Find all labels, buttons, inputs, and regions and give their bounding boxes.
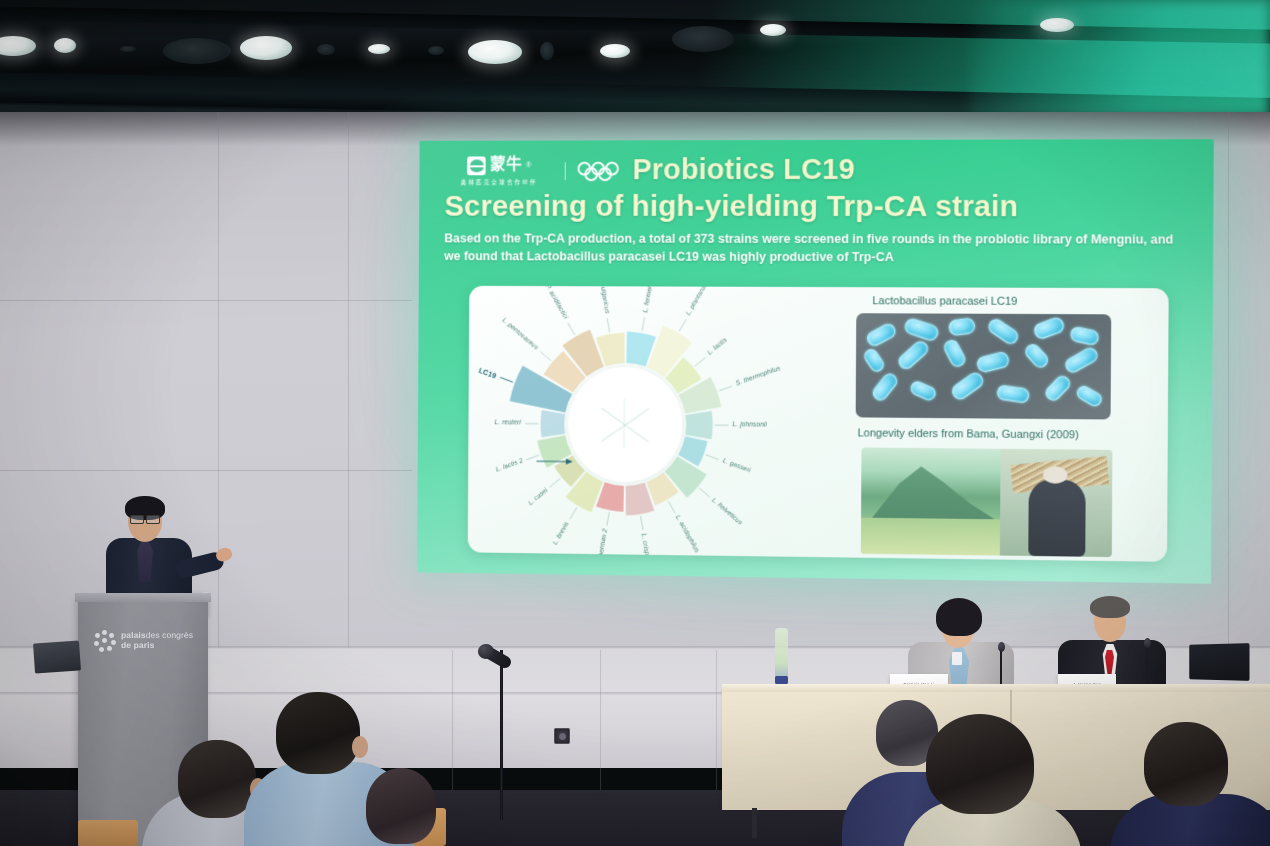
panelist-left-badge: [952, 652, 962, 665]
wall-panel-seam: [0, 470, 412, 471]
bama-landscape-photo: [861, 447, 1000, 555]
chart-category-label: L. johnsonii: [732, 421, 766, 428]
audience-member: [912, 714, 1072, 846]
slide-title: Screening of high-yielding Trp-CA strain: [444, 190, 1188, 224]
elder-figure: [1029, 479, 1086, 557]
panelist-left-hair: [936, 598, 982, 636]
panel-table-top-edge: [722, 684, 1270, 692]
mountain-shape: [872, 462, 995, 519]
chart-category-label: L. lactis: [706, 337, 728, 357]
ceiling-light-recess: [120, 46, 136, 52]
audience-ear: [352, 736, 368, 758]
panelist-right-microphone-head: [1144, 638, 1151, 648]
ceiling-light-recess: [672, 26, 734, 52]
lc19-callout-arrow: [535, 456, 568, 468]
elder-portrait-photo: [1000, 449, 1113, 557]
longevity-elders-image: [861, 447, 1113, 557]
chart-category-label: S. thermophilus: [735, 365, 782, 387]
slide-content-card: L. fermentumL. plantarumL. lactisS. ther…: [468, 286, 1169, 562]
projection-screen: 蒙牛 ® 奥林匹克全球合作伙伴: [417, 139, 1214, 584]
floor-microphone-head: [478, 644, 494, 659]
panelist-left-microphone-stem: [1000, 648, 1002, 686]
chart-category-label: L. helveticus: [711, 497, 744, 527]
dado-panel-seam: [716, 650, 717, 790]
registered-mark: ®: [526, 162, 531, 169]
venue-logo-mark-icon: [94, 630, 116, 652]
panel-table-leg: [752, 808, 757, 838]
ceiling: [0, 0, 1270, 118]
mengniu-brand-cn: 蒙牛: [490, 157, 522, 173]
chart-category-label: L. gasseri: [721, 457, 751, 474]
audience-head: [178, 740, 256, 818]
audience-head: [1144, 722, 1228, 806]
panelist-right-microphone-stem: [1146, 644, 1148, 686]
ceiling-downlight: [468, 40, 522, 64]
wall-panel-seam: [0, 300, 412, 301]
chart-category-label: L. fermentum: [642, 286, 656, 314]
chart-category-label: L. brevis: [535, 521, 571, 562]
ceiling-light-recess: [540, 42, 554, 60]
mengniu-logo: 蒙牛 ®: [467, 156, 531, 175]
panelist-right-hair: [1090, 596, 1130, 618]
confidence-monitor: [33, 640, 81, 673]
dado-panel-seam: [600, 650, 601, 790]
field-shape: [861, 518, 1000, 556]
mengniu-mark-icon: [467, 156, 486, 175]
chart-category-label: L. crispatus: [640, 533, 653, 562]
chart-category-label: L. lactis 2: [468, 457, 524, 483]
venue-logo-text: palaisdes congrès de paris: [121, 631, 193, 651]
chart-category-labels: L. fermentumL. plantarumL. lactisS. ther…: [468, 286, 837, 562]
laptop-screen: [1189, 643, 1249, 681]
slide-logo-row: 蒙牛 ® 奥林匹克全球合作伙伴: [445, 153, 1189, 187]
ceiling-light-recess: [163, 38, 231, 64]
ceiling-downlight: [368, 44, 390, 54]
ceiling-downlight: [54, 38, 76, 53]
wall-panel-seam: [1228, 112, 1229, 672]
audience-chair[interactable]: [78, 820, 138, 846]
chart-category-label: L. plantarum: [685, 286, 710, 317]
audience-head: [926, 714, 1034, 814]
ceiling-downlight: [0, 36, 36, 56]
ceiling-green-spill: [970, 0, 1270, 118]
ceiling-downlight: [600, 44, 630, 58]
laptop[interactable]: [1178, 644, 1252, 686]
logo-divider: [565, 162, 566, 180]
slide-kicker: Probiotics LC19: [632, 154, 855, 187]
venue-brand-line1: palais: [121, 630, 146, 640]
ceiling-light-recess: [317, 44, 335, 55]
chart-category-label: L. bulgaricus: [593, 286, 610, 315]
slide-body-text: Based on the Trp-CA production, a total …: [444, 230, 1188, 268]
floor-microphone-stand: [500, 650, 503, 820]
chart-category-label: LC19: [468, 352, 498, 381]
ceiling-light-recess: [428, 46, 444, 55]
bacteria-micrograph-image: [856, 313, 1112, 419]
lectern-top-surface: [75, 593, 211, 602]
chart-category-label: L. pentosaceus: [491, 308, 540, 352]
chart-category-label: L. casei: [499, 487, 549, 530]
slide-header: 蒙牛 ® 奥林匹克全球合作伙伴: [444, 153, 1189, 267]
ceiling-downlight: [760, 24, 786, 36]
chart-category-label: L. fermentum 2: [592, 529, 609, 562]
audience-head: [276, 692, 360, 774]
venue-brand-line3: de paris: [121, 641, 193, 651]
radial-bar-chart: L. fermentumL. plantarumL. lactisS. ther…: [468, 286, 837, 562]
conference-photo-scene: 蒙牛 ® 奥林匹克全球合作伙伴: [0, 0, 1270, 846]
elder-head: [1043, 466, 1068, 483]
wall-panel-seam: [348, 112, 349, 672]
water-bottle-cap: [775, 676, 788, 684]
venue-brand-line2: des congrès: [146, 630, 193, 640]
chart-category-label: L. reuteri: [468, 419, 521, 426]
wall-power-socket: [554, 728, 570, 744]
venue-logo: palaisdes congrès de paris: [94, 630, 193, 652]
panelist-left-microphone-head: [998, 642, 1005, 652]
audience-head: [366, 768, 436, 844]
chart-category-label: L. acidophilus: [674, 515, 700, 555]
elders-caption: Longevity elders from Bama, Guangxi (200…: [858, 427, 1079, 441]
olympic-rings-icon: [576, 161, 621, 181]
speaker-glasses: [130, 515, 160, 522]
chart-category-label: P. acidilactici: [534, 286, 569, 321]
micrograph-caption: Lactobacillus paracasei LC19: [872, 295, 1017, 308]
olympic-partner-line: 奥林匹克全球合作伙伴: [445, 178, 554, 186]
ceiling-downlight: [240, 36, 292, 60]
audience-member: [1122, 722, 1270, 846]
audience-member: [356, 768, 466, 846]
